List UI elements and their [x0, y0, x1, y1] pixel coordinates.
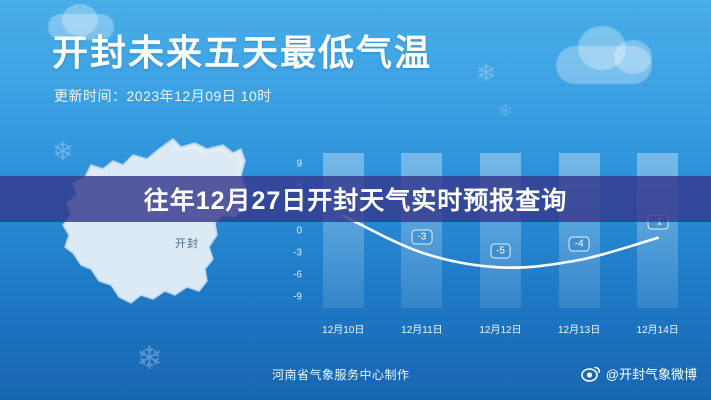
x-axis-tick: 12月13日 — [558, 321, 600, 336]
map-city-label: 开封 — [175, 235, 199, 251]
snowflake-icon: ❄ — [476, 62, 496, 86]
y-axis-tick: -6 — [282, 269, 302, 280]
x-axis-tick: 12月11日 — [401, 321, 443, 336]
temperature-chart: -3-5-4-1 9630-3-6-912月10日12月11日12月12日12月… — [282, 145, 697, 340]
weibo-eye-icon — [581, 366, 601, 382]
page-title: 开封未来五天最低气温 — [52, 24, 432, 76]
snowflake-icon: ❄ — [498, 102, 513, 120]
data-point-label: -3 — [411, 229, 432, 244]
x-axis-tick: 12月12日 — [479, 321, 521, 336]
data-point-label: -5 — [490, 244, 511, 259]
map-shape-icon — [55, 135, 285, 360]
x-axis-tick: 12月14日 — [637, 321, 679, 336]
weather-forecast-poster: ❄ ❄ ❄ ❄ 开封 开封未来五天最低气温 更新时间：2023年12月09日 1… — [0, 0, 711, 400]
y-axis-tick: 0 — [282, 225, 302, 236]
kaifeng-map: 开封 — [55, 135, 285, 360]
y-axis-tick: 9 — [282, 159, 302, 170]
weibo-handle: @开封气象微博 — [581, 364, 697, 383]
cloud-icon — [614, 40, 652, 74]
data-point-label: -4 — [569, 237, 590, 252]
update-time: 更新时间：2023年12月09日 10时 — [54, 86, 272, 106]
y-axis-tick: -3 — [282, 247, 302, 258]
weibo-handle-text: @开封气象微博 — [606, 364, 697, 383]
y-axis-tick: -9 — [282, 291, 302, 302]
producer-credit: 河南省气象服务中心制作 — [272, 366, 410, 383]
overlay-banner-title: 往年12月27日开封天气实时预报查询 — [0, 176, 711, 222]
x-axis-tick: 12月10日 — [322, 321, 364, 336]
